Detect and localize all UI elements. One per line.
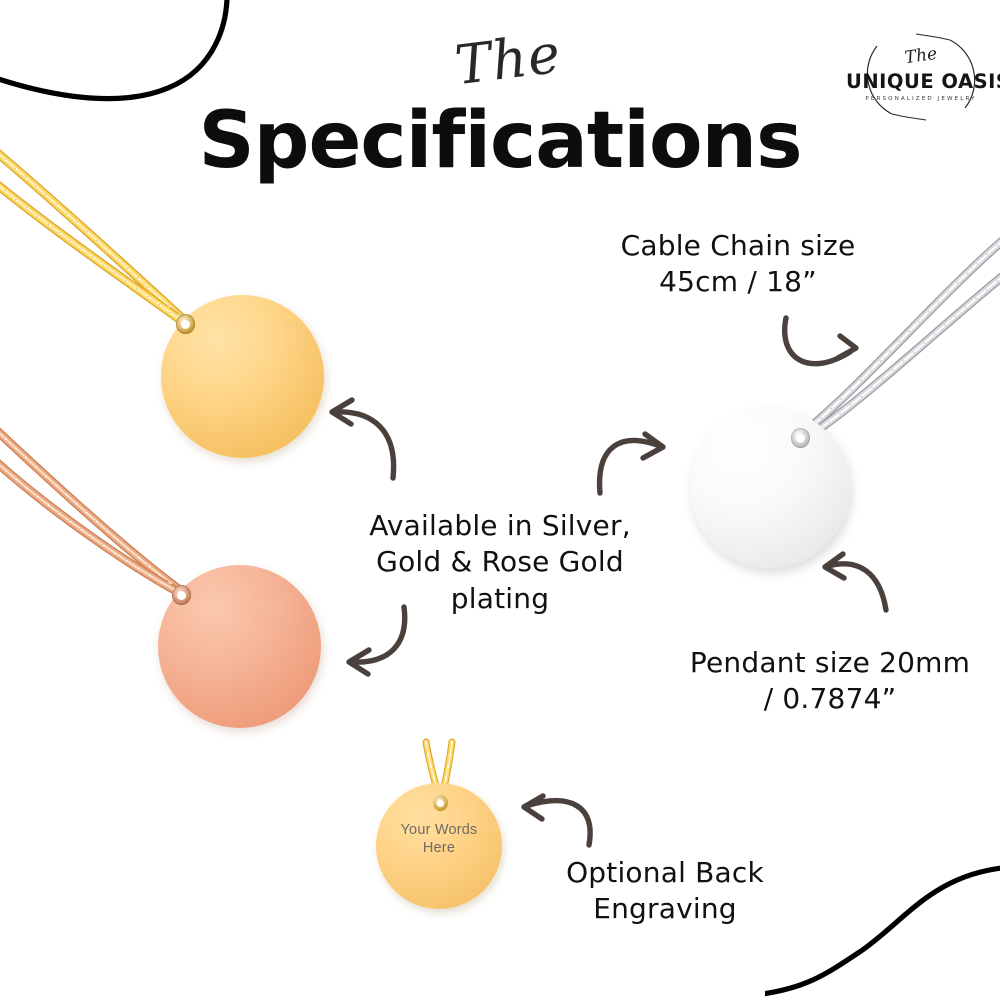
engrave-bail-hole: [437, 800, 444, 807]
silver-bail-hole: [796, 434, 805, 443]
engraving-sample-text: Your WordsHere: [376, 822, 502, 857]
arrow-to-gold-pendant: [332, 400, 394, 478]
arrow-to-pendant-size: [825, 554, 886, 610]
logo-tagline: PERSONALIZED JEWELRY: [846, 96, 996, 102]
gold-bail-hole: [181, 320, 190, 329]
arrow-to-engraving-pendant: [524, 796, 590, 845]
rose-bail-hole: [177, 591, 186, 600]
silver-pendant: [690, 408, 850, 568]
brand-logo: The UNIQUE OASIS PERSONALIZED JEWELRY: [846, 24, 996, 130]
arrow-to-silver-pendant: [600, 434, 663, 493]
rose-gold-chain: [0, 428, 182, 594]
logo-brand-name: UNIQUE OASIS: [846, 70, 996, 93]
callout-plating-options: Available in Silver,Gold & Rose Goldplat…: [338, 508, 662, 617]
callout-cable-chain-size: Cable Chain size45cm / 18”: [578, 228, 898, 301]
callout-back-engraving: Optional BackEngraving: [525, 855, 805, 928]
arrow-to-cable-chain: [785, 318, 856, 364]
callout-pendant-size: Pendant size 20mm/ 0.7874”: [660, 645, 1000, 718]
specifications-graphic: Your WordsHere: [0, 0, 1000, 1000]
